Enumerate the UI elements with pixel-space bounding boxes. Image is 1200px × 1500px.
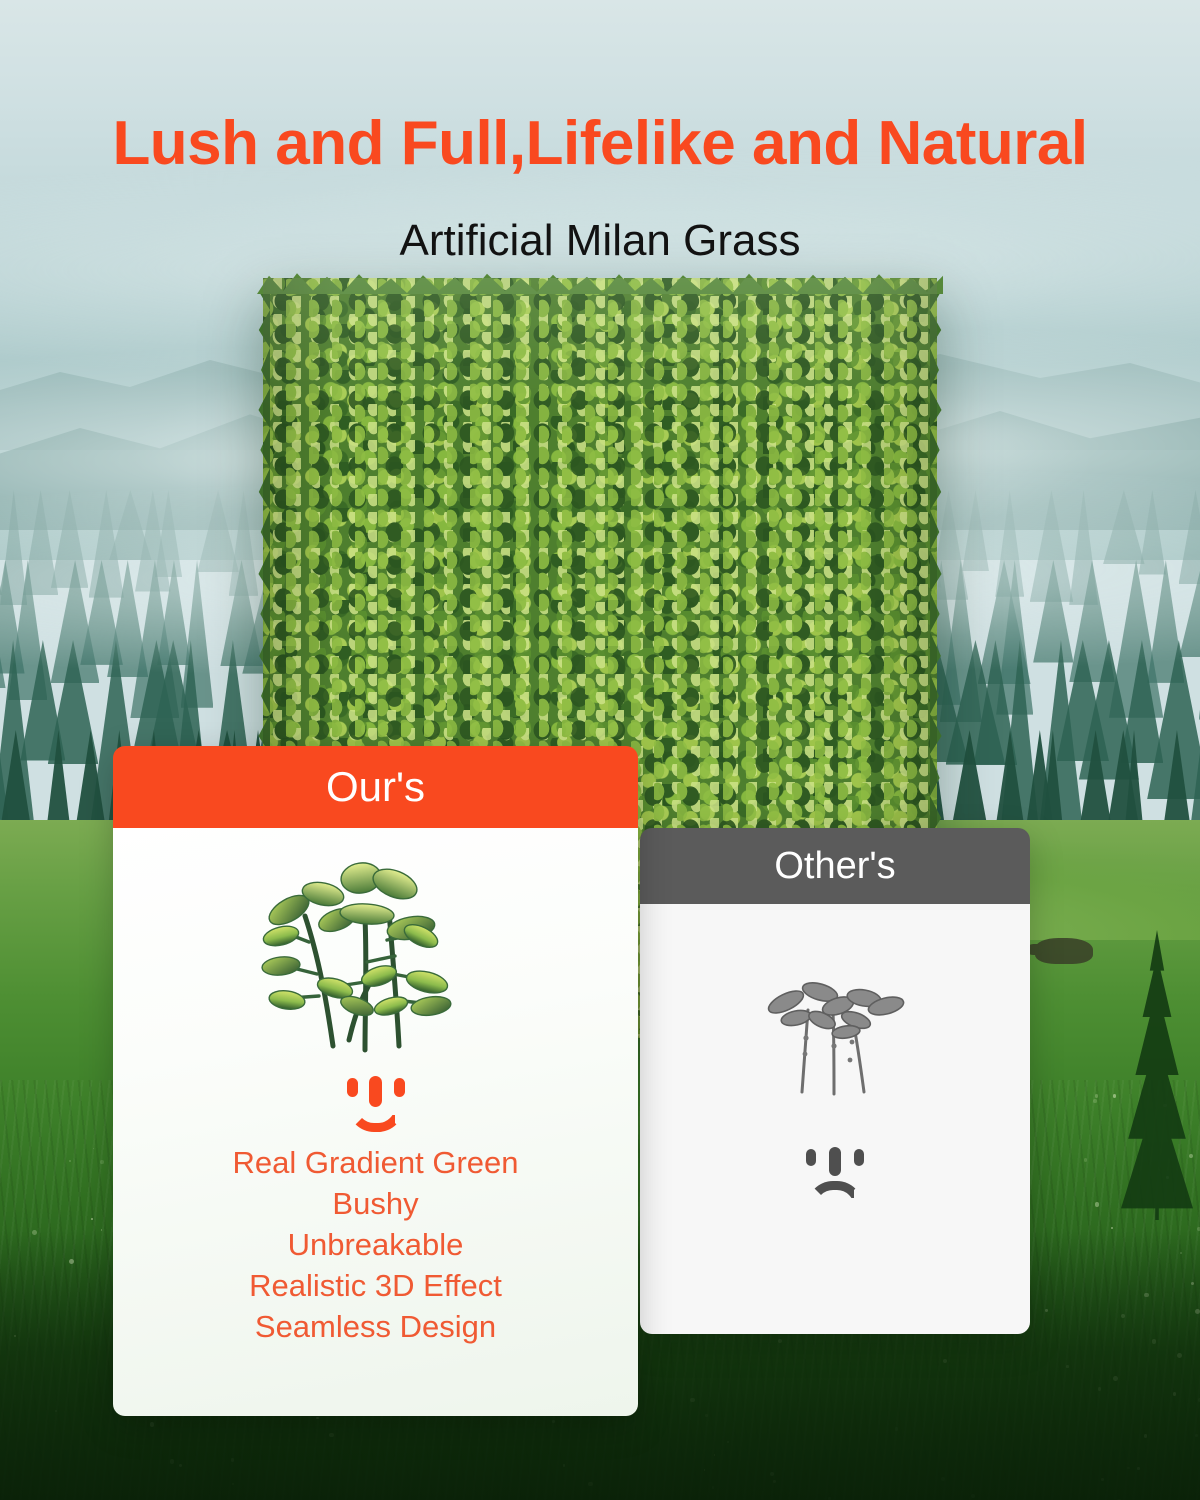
green-plant-sprig-icon [261, 854, 491, 1054]
grass-speck [1093, 1099, 1097, 1103]
comparison-card-others: Other's [640, 828, 1030, 1334]
others-card-body [640, 904, 1030, 1334]
happy-mouth [348, 1106, 404, 1132]
grass-speck [93, 1148, 95, 1150]
feature-item: Bushy [332, 1183, 418, 1224]
grass-speck [100, 1160, 104, 1164]
sad-eye-left [806, 1149, 816, 1166]
comparison-card-ours: Our's [113, 746, 638, 1416]
feature-item: Real Gradient Green [232, 1142, 518, 1183]
happy-nose [369, 1076, 382, 1107]
sad-mouth [807, 1181, 863, 1207]
grass-speck [1113, 1094, 1116, 1097]
ours-card-title: Our's [113, 746, 638, 828]
page-headline: Lush and Full,Lifelike and Natural [0, 108, 1200, 179]
grass-speck [1095, 1202, 1100, 1207]
feature-item: Unbreakable [288, 1224, 464, 1265]
page-subheadline: Artificial Milan Grass [0, 216, 1200, 266]
ours-card-body: Real Gradient GreenBushyUnbreakableReali… [113, 828, 638, 1416]
happy-eye-left [347, 1078, 358, 1097]
grass-speck [91, 1218, 93, 1220]
grass-speck [1189, 1154, 1193, 1158]
happy-face-icon [341, 1076, 411, 1124]
grass-speck [1095, 1094, 1099, 1098]
grayscale-plant-sprig-icon [760, 962, 910, 1097]
sad-nose [829, 1147, 841, 1176]
grass-speck [69, 1160, 72, 1163]
sad-eye-right [854, 1149, 864, 1166]
sad-face-icon [800, 1147, 870, 1195]
feature-item: Seamless Design [255, 1306, 496, 1347]
ours-feature-list: Real Gradient GreenBushyUnbreakableReali… [113, 1142, 638, 1347]
grass-speck [1111, 1227, 1113, 1229]
grass-speck [1084, 1158, 1088, 1162]
grazing-animal [1035, 938, 1093, 964]
others-card-title: Other's [640, 828, 1030, 904]
feature-item: Realistic 3D Effect [249, 1265, 502, 1306]
happy-eye-right [394, 1078, 405, 1097]
